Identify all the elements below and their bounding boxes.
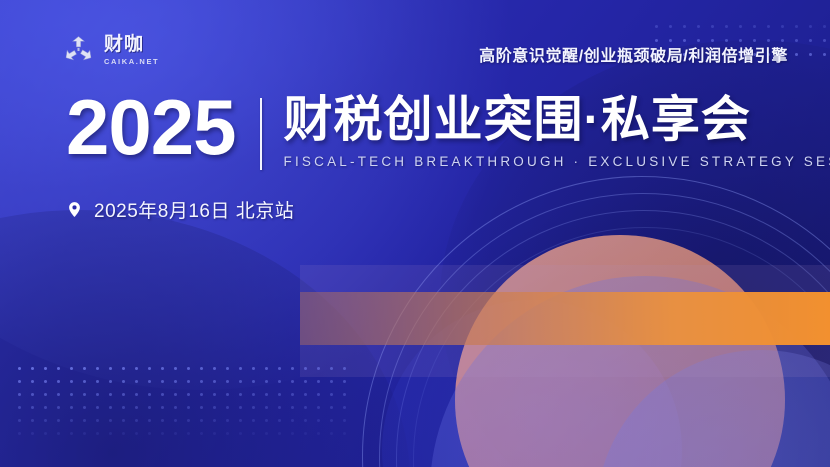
grid-dot: [683, 25, 686, 28]
grid-dot: [161, 380, 164, 383]
decorative-arc-4: [413, 227, 830, 467]
title-divider: [260, 98, 262, 170]
grid-dot: [330, 406, 333, 409]
grid-dot: [187, 432, 190, 435]
grid-dot: [174, 406, 177, 409]
grid-dot: [213, 367, 216, 370]
grid-dot: [122, 380, 125, 383]
grid-dot: [330, 380, 333, 383]
grid-dot: [239, 419, 242, 422]
grid-dot: [669, 25, 672, 28]
grid-dot: [57, 419, 60, 422]
grid-dot: [795, 53, 798, 56]
grid-dot: [122, 419, 125, 422]
decorative-orange-bar: [300, 292, 830, 345]
grid-dot: [18, 367, 21, 370]
grid-dot: [330, 367, 333, 370]
grid-dot: [252, 406, 255, 409]
grid-dot: [135, 406, 138, 409]
grid-dot: [317, 432, 320, 435]
grid-dot: [148, 367, 151, 370]
grid-dot: [31, 393, 34, 396]
grid-dot: [44, 380, 47, 383]
grid-dot: [809, 39, 812, 42]
grid-dot: [213, 380, 216, 383]
grid-dot: [265, 432, 268, 435]
decorative-circle-dark: [382, 300, 682, 467]
grid-dot: [739, 25, 742, 28]
decorative-arc-1: [362, 176, 830, 467]
grid-dot: [753, 25, 756, 28]
grid-dot: [343, 406, 346, 409]
grid-dot: [304, 393, 307, 396]
grid-dot: [31, 406, 34, 409]
grid-dot: [187, 393, 190, 396]
grid-dot: [70, 367, 73, 370]
grid-dot: [200, 432, 203, 435]
grid-dot: [239, 380, 242, 383]
grid-dot: [109, 367, 112, 370]
decorative-circle-soft-1: [430, 276, 830, 467]
grid-dot: [330, 393, 333, 396]
grid-dot: [83, 380, 86, 383]
grid-dot: [135, 380, 138, 383]
grid-dot: [174, 380, 177, 383]
grid-dot: [226, 419, 229, 422]
grid-dot: [317, 367, 320, 370]
grid-dot: [291, 367, 294, 370]
grid-dot: [343, 393, 346, 396]
grid-dot: [265, 406, 268, 409]
grid-dot: [239, 393, 242, 396]
grid-dot: [70, 393, 73, 396]
grid-dot: [278, 419, 281, 422]
grid-dot: [31, 432, 34, 435]
grid-dot: [96, 419, 99, 422]
grid-dot: [291, 419, 294, 422]
grid-dot: [265, 380, 268, 383]
grid-dot: [31, 380, 34, 383]
decorative-band-bottom: [300, 345, 830, 377]
grid-dot: [135, 419, 138, 422]
grid-dot: [174, 367, 177, 370]
grid-dot: [200, 367, 203, 370]
grid-dot: [70, 432, 73, 435]
grid-dot: [767, 25, 770, 28]
grid-dot: [44, 432, 47, 435]
grid-dot: [265, 419, 268, 422]
grid-dot: [697, 25, 700, 28]
grid-dot: [187, 380, 190, 383]
grid-dot: [161, 419, 164, 422]
grid-dot: [70, 380, 73, 383]
title-block: 2025 财税创业突围·私享会 FISCAL-TECH BREAKTHROUGH…: [66, 92, 830, 170]
grid-dot: [148, 419, 151, 422]
logo-name-cn: 财咖: [104, 35, 159, 55]
grid-dot: [174, 432, 177, 435]
grid-dot: [304, 406, 307, 409]
grid-dot: [278, 367, 281, 370]
grid-dot: [781, 25, 784, 28]
grid-dot: [148, 406, 151, 409]
grid-dot: [161, 393, 164, 396]
grid-dot: [317, 406, 320, 409]
grid-dot: [135, 432, 138, 435]
grid-dot: [252, 432, 255, 435]
grid-dot: [252, 419, 255, 422]
grid-dot: [44, 419, 47, 422]
grid-dot: [252, 380, 255, 383]
grid-dot: [96, 367, 99, 370]
grid-dot: [343, 432, 346, 435]
grid-dot: [57, 380, 60, 383]
grid-dot: [161, 406, 164, 409]
grid-dot: [31, 367, 34, 370]
grid-dot: [83, 393, 86, 396]
grid-dot: [109, 380, 112, 383]
grid-dot: [187, 419, 190, 422]
grid-dot: [122, 406, 125, 409]
grid-dot: [57, 432, 60, 435]
decorative-circle-soft-2: [596, 350, 830, 467]
event-year: 2025: [66, 92, 236, 164]
grid-dot: [317, 380, 320, 383]
grid-dot: [252, 367, 255, 370]
grid-dot: [226, 380, 229, 383]
grid-dot: [70, 406, 73, 409]
grid-dot: [18, 419, 21, 422]
grid-dot: [57, 393, 60, 396]
grid-dot: [83, 406, 86, 409]
event-meta: 2025年8月16日 北京站: [66, 196, 294, 223]
background-vignette-bottom-left: [0, 210, 410, 467]
grid-dot: [795, 25, 798, 28]
grid-dot: [304, 419, 307, 422]
grid-dot: [109, 419, 112, 422]
grid-dot: [265, 393, 268, 396]
grid-dot: [213, 419, 216, 422]
grid-dot: [161, 367, 164, 370]
grid-dot: [343, 419, 346, 422]
grid-dot: [57, 406, 60, 409]
grid-dot: [343, 367, 346, 370]
grid-dot: [122, 367, 125, 370]
grid-dot: [200, 406, 203, 409]
grid-dot: [226, 367, 229, 370]
location-pin-icon: [66, 201, 83, 218]
grid-dot: [330, 419, 333, 422]
decorative-arc-3: [396, 210, 830, 467]
grid-dot: [96, 393, 99, 396]
grid-dot: [809, 25, 812, 28]
grid-dot: [187, 406, 190, 409]
grid-dot: [200, 380, 203, 383]
grid-dot: [278, 432, 281, 435]
grid-dot: [239, 432, 242, 435]
grid-dot: [343, 380, 346, 383]
grid-dot: [278, 406, 281, 409]
grid-dot: [278, 380, 281, 383]
grid-dot: [96, 432, 99, 435]
grid-dot: [200, 419, 203, 422]
grid-dot: [291, 432, 294, 435]
logo-name-en: CAIKA.NET: [104, 57, 159, 66]
grid-dot: [213, 406, 216, 409]
grid-dot: [291, 380, 294, 383]
grid-dot: [239, 367, 242, 370]
grid-dot: [57, 367, 60, 370]
grid-dot: [226, 393, 229, 396]
grid-dot: [655, 25, 658, 28]
grid-dot: [823, 39, 826, 42]
grid-dot: [148, 393, 151, 396]
grid-dot: [795, 39, 798, 42]
grid-dot: [135, 393, 138, 396]
decorative-orange-circle-overlay: [455, 235, 785, 467]
grid-dot: [18, 432, 21, 435]
grid-dot: [200, 393, 203, 396]
grid-dot: [174, 393, 177, 396]
grid-dot: [304, 367, 307, 370]
grid-dot: [109, 393, 112, 396]
grid-dot: [44, 393, 47, 396]
grid-dot: [18, 406, 21, 409]
grid-dot: [18, 380, 21, 383]
grid-dot: [18, 393, 21, 396]
event-title-en: FISCAL-TECH BREAKTHROUGH · EXCLUSIVE STR…: [284, 154, 830, 169]
grid-dot: [109, 432, 112, 435]
grid-dot: [823, 25, 826, 28]
grid-dot: [148, 432, 151, 435]
grid-dot: [122, 432, 125, 435]
grid-dot: [174, 419, 177, 422]
grid-dot: [239, 406, 242, 409]
event-title-cn: 财税创业突围·私享会: [284, 94, 830, 147]
event-banner: 财咖 CAIKA.NET 高阶意识觉醒/创业瓶颈破局/利润倍增引擎 2025 财…: [0, 0, 830, 467]
tagline: 高阶意识觉醒/创业瓶颈破局/利润倍增引擎: [479, 42, 788, 66]
grid-dot: [330, 432, 333, 435]
grid-dot: [83, 367, 86, 370]
grid-dot: [122, 393, 125, 396]
grid-dot: [83, 419, 86, 422]
grid-dot: [161, 432, 164, 435]
grid-dot: [83, 432, 86, 435]
grid-dot: [226, 406, 229, 409]
brand-logo[interactable]: 财咖 CAIKA.NET: [62, 34, 159, 67]
grid-dot: [226, 432, 229, 435]
decorative-band-top: [300, 265, 830, 292]
grid-dot: [135, 367, 138, 370]
grid-dot: [317, 393, 320, 396]
grid-dot: [148, 380, 151, 383]
recycle-arrows-icon: [62, 34, 95, 67]
decorative-arc-2: [379, 193, 830, 467]
event-date-city: 2025年8月16日 北京站: [94, 196, 294, 223]
grid-dot: [187, 367, 190, 370]
grid-dot: [809, 53, 812, 56]
grid-dot: [96, 380, 99, 383]
grid-dot: [213, 432, 216, 435]
grid-dot: [304, 432, 307, 435]
grid-dot: [252, 393, 255, 396]
grid-dot: [725, 25, 728, 28]
grid-dot: [44, 367, 47, 370]
grid-dot: [291, 406, 294, 409]
grid-dot: [291, 393, 294, 396]
grid-dot: [109, 406, 112, 409]
grid-dot: [265, 367, 268, 370]
grid-dot: [70, 419, 73, 422]
grid-dot: [823, 53, 826, 56]
grid-dot: [96, 406, 99, 409]
grid-dot: [31, 419, 34, 422]
grid-dot: [278, 393, 281, 396]
decorative-orange-circle: [455, 235, 785, 467]
grid-dot: [213, 393, 216, 396]
grid-dot: [44, 406, 47, 409]
grid-dot: [317, 419, 320, 422]
grid-dot: [304, 380, 307, 383]
grid-dot: [711, 25, 714, 28]
